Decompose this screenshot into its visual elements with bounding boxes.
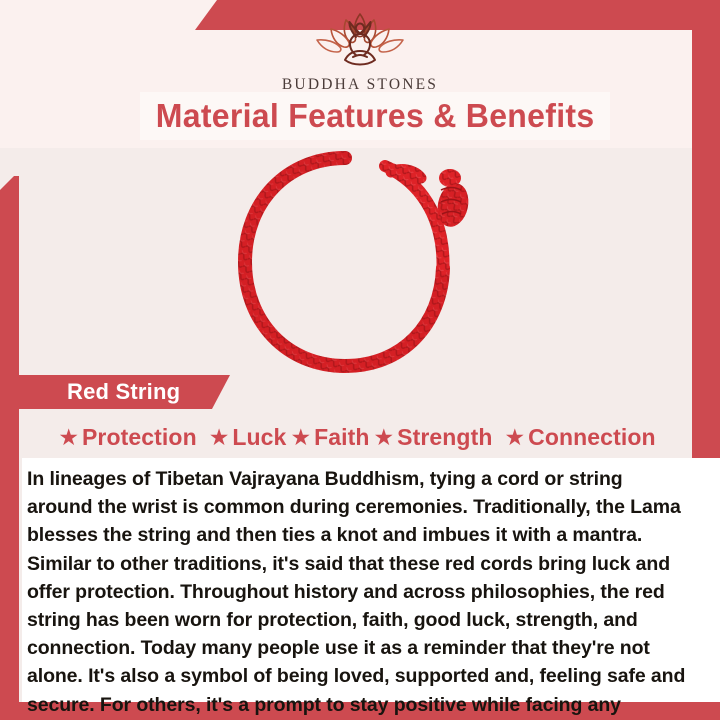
benefit-item-luck: ★ Luck: [209, 424, 287, 451]
product-label: Red String: [19, 379, 214, 405]
frame-left-bar: [0, 176, 19, 720]
product-image: [19, 150, 692, 375]
page-title: Material Features & Benefits: [156, 97, 595, 135]
benefit-label-protection: Protection: [82, 424, 197, 451]
title-banner: Material Features & Benefits: [140, 92, 610, 140]
star-icon: ★: [58, 426, 79, 449]
benefit-label-faith: Faith: [314, 424, 369, 451]
product-label-ribbon: Red String: [19, 375, 230, 409]
star-icon: ★: [374, 426, 395, 449]
benefit-label-luck: Luck: [232, 424, 286, 451]
benefit-label-strength: Strength: [397, 424, 492, 451]
benefit-label-connection: Connection: [528, 424, 656, 451]
description-text: In lineages of Tibetan Vajrayana Buddhis…: [27, 465, 692, 720]
lotus-meditation-icon: [304, 10, 416, 72]
benefit-item-protection: ★ Protection: [58, 424, 196, 451]
star-icon: ★: [209, 426, 230, 449]
benefit-item-connection: ★ Connection: [505, 424, 656, 451]
benefit-item-strength: ★ Strength: [374, 424, 493, 451]
poster-root: BUDDHA STONES Material Features & Benefi…: [0, 0, 720, 720]
red-braided-string-bracelet-icon: [225, 150, 487, 375]
brand-logo: BUDDHA STONES: [0, 10, 720, 94]
star-icon: ★: [505, 426, 526, 449]
description-panel: In lineages of Tibetan Vajrayana Buddhis…: [22, 458, 720, 702]
benefits-list: ★ Protection ★ Luck ★ Faith ★ Strength ★…: [22, 420, 692, 454]
star-icon: ★: [290, 426, 311, 449]
benefit-item-faith: ★ Faith: [290, 424, 369, 451]
